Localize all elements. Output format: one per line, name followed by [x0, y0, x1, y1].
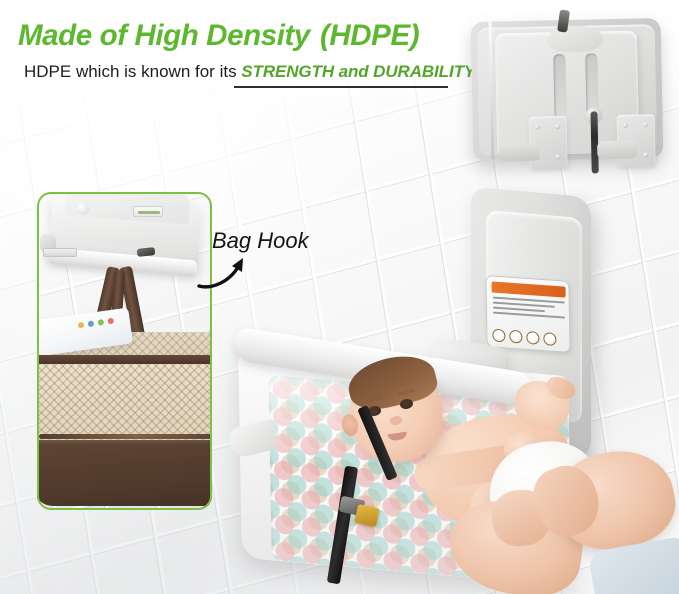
warning-pictogram-icon — [492, 329, 505, 343]
product-feature-graphic: Made of High Density(HDPE) HDPE which is… — [0, 0, 679, 594]
folded-station-face — [495, 31, 640, 156]
folded-station-hinge-rod — [590, 111, 598, 173]
screw-icon — [643, 152, 648, 157]
subheadline-underline — [234, 86, 448, 88]
page-title: Made of High Density(HDPE) — [18, 19, 419, 53]
warning-pictogram-icon — [509, 330, 522, 344]
warning-pictogram-icon — [543, 332, 556, 346]
folded-station-slot — [553, 54, 566, 118]
warning-header-bar — [491, 281, 565, 297]
inset-frame-border — [37, 192, 212, 510]
headline-abbreviation: (HDPE) — [320, 19, 419, 52]
folded-station-foot — [597, 141, 637, 160]
screw-icon — [535, 125, 540, 130]
folded-station-cap — [547, 25, 604, 52]
screw-icon — [623, 123, 628, 128]
screw-icon — [555, 124, 560, 129]
warning-pictograms — [492, 329, 556, 346]
headline-main: Made of High Density — [18, 19, 310, 52]
subheadline: HDPE which is known for its STRENGTH and… — [24, 62, 478, 82]
folded-station-foot — [499, 143, 539, 162]
subheadline-prefix: HDPE which is known for its — [24, 62, 241, 81]
warning-pictogram-icon — [526, 331, 539, 345]
screw-icon — [643, 122, 648, 127]
screw-icon — [555, 154, 560, 159]
safety-warning-label — [485, 275, 570, 353]
subheadline-emphasis: STRENGTH and DURABILITY. — [241, 62, 478, 81]
folded-changing-station — [466, 12, 667, 168]
curved-arrow-icon — [196, 250, 260, 292]
warning-text-lines — [493, 297, 565, 322]
